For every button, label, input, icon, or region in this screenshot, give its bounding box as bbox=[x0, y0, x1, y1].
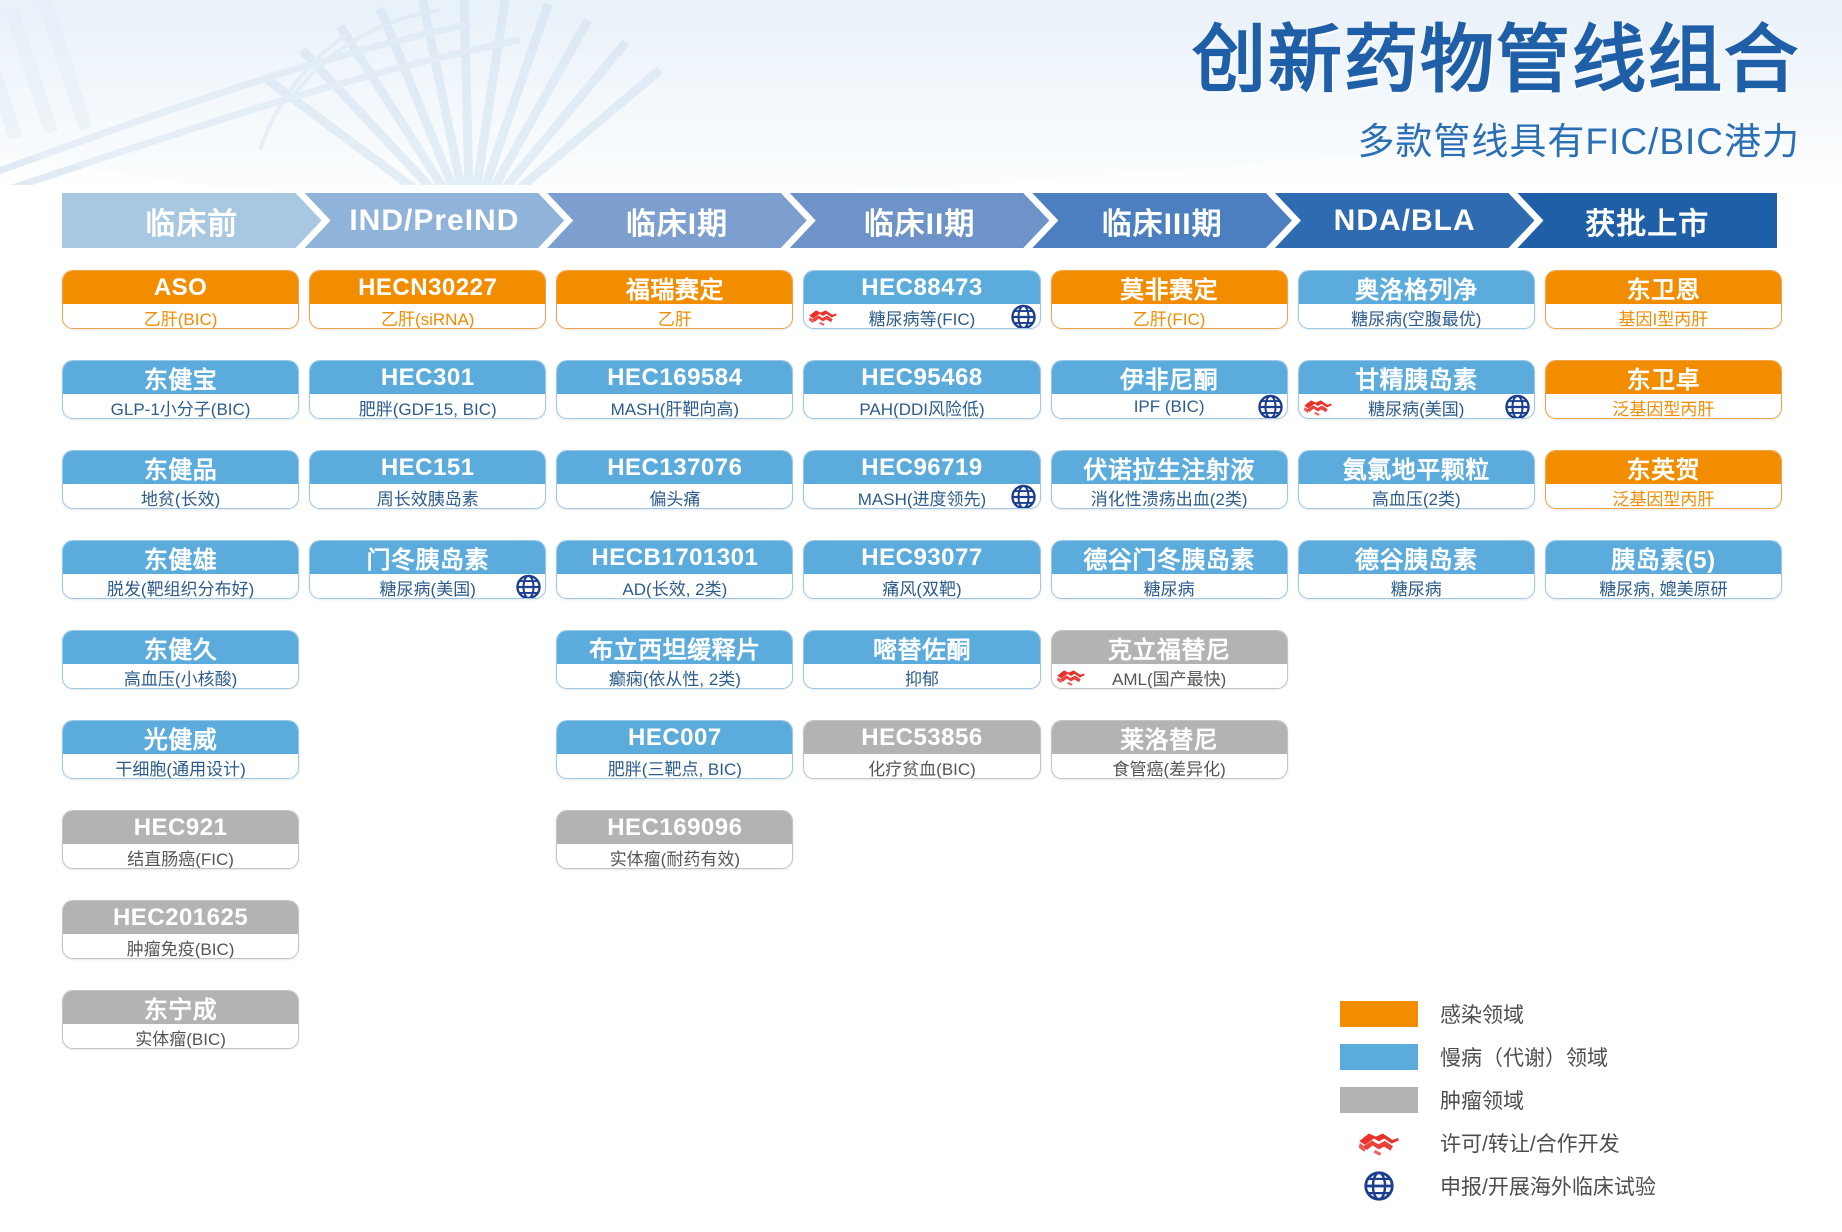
pipeline-card-name: 德谷胰岛素 bbox=[1299, 541, 1534, 574]
pipeline-card[interactable]: HEC93077痛风(双靶) bbox=[803, 540, 1040, 599]
pipeline-card-indication: 糖尿病 bbox=[1391, 575, 1442, 600]
pipeline-card[interactable]: HEC88473糖尿病等(FIC) bbox=[803, 270, 1040, 329]
pipeline-card-indication: 乙肝(siRNA) bbox=[381, 305, 475, 330]
pipeline-card-name: 福瑞赛定 bbox=[557, 271, 792, 304]
legend-color-swatch bbox=[1340, 1044, 1418, 1070]
pipeline-card-indication: 糖尿病(美国) bbox=[1368, 395, 1464, 420]
pipeline-card-indication: 糖尿病, 媲美原研 bbox=[1599, 575, 1727, 600]
pipeline-card-name: HEC53856 bbox=[804, 721, 1039, 754]
pipeline-card[interactable]: HECB1701301AD(长效, 2类) bbox=[556, 540, 793, 599]
legend-item: 感染领域 bbox=[1340, 1000, 1656, 1028]
pipeline-card[interactable]: HEC95468PAH(DDI风险低) bbox=[803, 360, 1040, 419]
pipeline-card-indication: IPF (BIC) bbox=[1134, 397, 1205, 417]
pipeline-card-name: 胰岛素(5) bbox=[1546, 541, 1781, 574]
handshake-icon bbox=[1056, 667, 1086, 687]
pipeline-card-indication: 实体瘤(BIC) bbox=[135, 1025, 226, 1050]
pipeline-card-indication: 肥胖(三靶点, BIC) bbox=[608, 755, 742, 780]
pipeline-card-indication-row: 抑郁 bbox=[804, 664, 1039, 689]
pipeline-card[interactable]: 布立西坦缓释片癫痫(依从性, 2类) bbox=[556, 630, 793, 689]
pipeline-card[interactable]: 莫非赛定乙肝(FIC) bbox=[1051, 270, 1288, 329]
pipeline-card-name: 布立西坦缓释片 bbox=[557, 631, 792, 664]
pipeline-card-name: 光健威 bbox=[63, 721, 298, 754]
legend-item: 慢病（代谢）领域 bbox=[1340, 1043, 1656, 1071]
page-subtitle: 多款管线具有FIC/BIC港力 bbox=[1192, 111, 1800, 165]
pipeline-card-indication-row: 泛基因型丙肝 bbox=[1546, 394, 1781, 419]
pipeline-card-name: 东健雄 bbox=[63, 541, 298, 574]
pipeline-column-6: 奥洛格列净糖尿病(空腹最优)甘精胰岛素糖尿病(美国)氨氯地平颗粒高血压(2类)德… bbox=[1298, 270, 1535, 1049]
pipeline-card[interactable]: 门冬胰岛素糖尿病(美国) bbox=[309, 540, 546, 599]
pipeline-card-name: HEC007 bbox=[557, 721, 792, 754]
pipeline-card-indication: 食管癌(差异化) bbox=[1112, 755, 1225, 780]
pipeline-card[interactable]: 伊非尼酮IPF (BIC) bbox=[1051, 360, 1288, 419]
pipeline-card-indication-row: 乙肝(FIC) bbox=[1052, 304, 1287, 329]
pipeline-column-1: ASO乙肝(BIC)东健宝GLP-1小分子(BIC)东健品地贫(长效)东健雄脱发… bbox=[62, 270, 299, 1049]
legend-globe-icon bbox=[1340, 1172, 1418, 1200]
pipeline-card-indication: 周长效胰岛素 bbox=[377, 485, 479, 510]
pipeline-card-indication: 癫痫(依从性, 2类) bbox=[609, 665, 741, 690]
pipeline-card-indication-row: 实体瘤(BIC) bbox=[63, 1024, 298, 1049]
pipeline-card-name: HECB1701301 bbox=[557, 541, 792, 574]
pipeline-card-indication-row: 糖尿病(美国) bbox=[310, 574, 545, 599]
page-title: 创新药物管线组合 bbox=[1192, 14, 1800, 107]
page-header: 创新药物管线组合 多款管线具有FIC/BIC港力 bbox=[1192, 0, 1800, 165]
pipeline-card-indication: 肥胖(GDF15, BIC) bbox=[359, 395, 497, 420]
stage-header-2[interactable]: IND/PreIND bbox=[305, 193, 565, 248]
pipeline-card-name: 嘧替佐酮 bbox=[804, 631, 1039, 664]
pipeline-card-indication: 偏头痛 bbox=[649, 485, 700, 510]
stage-header-label: 临床III期 bbox=[1102, 199, 1223, 243]
pipeline-grid: ASO乙肝(BIC)东健宝GLP-1小分子(BIC)东健品地贫(长效)东健雄脱发… bbox=[62, 270, 1782, 1049]
stage-header-6[interactable]: NDA/BLA bbox=[1275, 193, 1535, 248]
pipeline-card-indication: GLP-1小分子(BIC) bbox=[111, 395, 251, 420]
pipeline-card-indication: PAH(DDI风险低) bbox=[859, 395, 984, 420]
legend-item: 肿瘤领域 bbox=[1340, 1086, 1656, 1114]
pipeline-card-indication-row: 结直肠癌(FIC) bbox=[63, 844, 298, 869]
pipeline-card-name: 德谷门冬胰岛素 bbox=[1052, 541, 1287, 574]
pipeline-card[interactable]: HEC169584MASH(肝靶向高) bbox=[556, 360, 793, 419]
legend-label: 慢病（代谢）领域 bbox=[1440, 1042, 1608, 1072]
stage-header-4[interactable]: 临床II期 bbox=[790, 193, 1050, 248]
pipeline-card[interactable]: HEC53856化疗贫血(BIC) bbox=[803, 720, 1040, 779]
pipeline-card-indication-row: IPF (BIC) bbox=[1052, 394, 1287, 419]
pipeline-card-name: 东健宝 bbox=[63, 361, 298, 394]
pipeline-card-name: 莫非赛定 bbox=[1052, 271, 1287, 304]
legend-color-swatch bbox=[1340, 1001, 1418, 1027]
pipeline-card[interactable]: 东英贺泛基因型丙肝 bbox=[1545, 450, 1782, 509]
legend-label: 许可/转让/合作开发 bbox=[1440, 1128, 1620, 1158]
pipeline-card-name: HEC88473 bbox=[804, 271, 1039, 304]
globe-icon bbox=[516, 575, 541, 600]
stage-header-5[interactable]: 临床III期 bbox=[1032, 193, 1292, 248]
pipeline-card-indication-row: 周长效胰岛素 bbox=[310, 484, 545, 509]
pipeline-card-indication-row: 消化性溃疡出血(2类) bbox=[1052, 484, 1287, 509]
pipeline-card-indication: 泛基因型丙肝 bbox=[1612, 485, 1714, 510]
pipeline-card[interactable]: 伏诺拉生注射液消化性溃疡出血(2类) bbox=[1051, 450, 1288, 509]
pipeline-card-indication: 乙肝(BIC) bbox=[144, 305, 218, 330]
stage-header-3[interactable]: 临床I期 bbox=[547, 193, 807, 248]
pipeline-card[interactable]: 德谷胰岛素糖尿病 bbox=[1298, 540, 1535, 599]
pipeline-card-name: HEC301 bbox=[310, 361, 545, 394]
pipeline-card-indication: MASH(肝靶向高) bbox=[611, 395, 739, 420]
pipeline-card-indication: 糖尿病等(FIC) bbox=[869, 305, 976, 330]
pipeline-card-indication: MASH(进度领先) bbox=[858, 485, 986, 510]
pipeline-card-indication: 乙肝 bbox=[658, 305, 692, 330]
pipeline-card-indication-row: 肥胖(GDF15, BIC) bbox=[310, 394, 545, 419]
pipeline-card-indication: AML(国产最快) bbox=[1112, 665, 1226, 690]
pipeline-card[interactable]: HEC137076偏头痛 bbox=[556, 450, 793, 509]
pipeline-card-name: HEC169584 bbox=[557, 361, 792, 394]
pipeline-column-7: 东卫恩基因I型丙肝东卫卓泛基因型丙肝东英贺泛基因型丙肝胰岛素(5)糖尿病, 媲美… bbox=[1545, 270, 1782, 1049]
pipeline-card-indication-row: 肿瘤免疫(BIC) bbox=[63, 934, 298, 959]
pipeline-card[interactable]: HEC007肥胖(三靶点, BIC) bbox=[556, 720, 793, 779]
globe-icon bbox=[1258, 395, 1283, 420]
legend-color-swatch bbox=[1340, 1087, 1418, 1113]
legend-handshake-icon bbox=[1340, 1129, 1418, 1157]
pipeline-card-name: HEC201625 bbox=[63, 901, 298, 934]
pipeline-card[interactable]: 甘精胰岛素糖尿病(美国) bbox=[1298, 360, 1535, 419]
pipeline-card-name: HEC921 bbox=[63, 811, 298, 844]
pipeline-card-indication-row: 高血压(小核酸) bbox=[63, 664, 298, 689]
pipeline-card[interactable]: 东卫卓泛基因型丙肝 bbox=[1545, 360, 1782, 419]
pipeline-card[interactable]: 东健品地贫(长效) bbox=[62, 450, 299, 509]
pipeline-card-name: HEC137076 bbox=[557, 451, 792, 484]
pipeline-card[interactable]: ASO乙肝(BIC) bbox=[62, 270, 299, 329]
pipeline-card-indication: 抑郁 bbox=[905, 665, 939, 690]
handshake-icon bbox=[808, 307, 838, 327]
pipeline-card[interactable]: 氨氯地平颗粒高血压(2类) bbox=[1298, 450, 1535, 509]
pipeline-card-indication-row: 糖尿病(空腹最优) bbox=[1299, 304, 1534, 329]
legend-label: 感染领域 bbox=[1440, 999, 1524, 1029]
pipeline-card[interactable]: 嘧替佐酮抑郁 bbox=[803, 630, 1040, 689]
pipeline-card-indication: 痛风(双靶) bbox=[882, 575, 961, 600]
pipeline-card-indication: 肿瘤免疫(BIC) bbox=[127, 935, 235, 960]
pipeline-card[interactable]: 德谷门冬胰岛素糖尿病 bbox=[1051, 540, 1288, 599]
pipeline-card[interactable]: HEC96719MASH(进度领先) bbox=[803, 450, 1040, 509]
pipeline-card[interactable]: 福瑞赛定乙肝 bbox=[556, 270, 793, 329]
pipeline-card-indication: 基因I型丙肝 bbox=[1619, 305, 1709, 330]
legend-label: 申报/开展海外临床试验 bbox=[1440, 1171, 1656, 1201]
pipeline-card-indication-row: 基因I型丙肝 bbox=[1546, 304, 1781, 329]
pipeline-card[interactable]: HEC301肥胖(GDF15, BIC) bbox=[309, 360, 546, 419]
pipeline-card-indication: 糖尿病(空腹最优) bbox=[1351, 305, 1481, 330]
pipeline-card-indication: 化疗贫血(BIC) bbox=[868, 755, 976, 780]
stage-header-1[interactable]: 临床前 bbox=[62, 193, 322, 248]
pipeline-card[interactable]: 克立福替尼AML(国产最快) bbox=[1051, 630, 1288, 689]
pipeline-card-indication-row: 地贫(长效) bbox=[63, 484, 298, 509]
stage-header-label: 临床II期 bbox=[864, 199, 976, 243]
pipeline-card-name: HEC93077 bbox=[804, 541, 1039, 574]
pipeline-card-indication-row: GLP-1小分子(BIC) bbox=[63, 394, 298, 419]
pipeline-card-name: 奥洛格列净 bbox=[1299, 271, 1534, 304]
pipeline-card-indication-row: 糖尿病等(FIC) bbox=[804, 304, 1039, 329]
pipeline-card-indication: 乙肝(FIC) bbox=[1133, 305, 1206, 330]
pipeline-card-name: 莱洛替尼 bbox=[1052, 721, 1287, 754]
pipeline-column-5: 莫非赛定乙肝(FIC)伊非尼酮IPF (BIC)伏诺拉生注射液消化性溃疡出血(2… bbox=[1051, 270, 1288, 1049]
handshake-icon bbox=[1357, 1129, 1401, 1157]
globe-icon bbox=[1505, 395, 1530, 420]
pipeline-card-indication: 脱发(靶组织分布好) bbox=[107, 575, 254, 600]
pipeline-card-indication: 地贫(长效) bbox=[141, 485, 220, 510]
pipeline-card[interactable]: HECN30227乙肝(siRNA) bbox=[309, 270, 546, 329]
pipeline-column-3: 福瑞赛定乙肝HEC169584MASH(肝靶向高)HEC137076偏头痛HEC… bbox=[556, 270, 793, 1049]
pipeline-card-indication-row: MASH(肝靶向高) bbox=[557, 394, 792, 419]
pipeline-card-indication-row: 糖尿病, 媲美原研 bbox=[1546, 574, 1781, 599]
stage-header-label: 获批上市 bbox=[1585, 199, 1709, 243]
pipeline-card-name: HEC95468 bbox=[804, 361, 1039, 394]
pipeline-card-name: ASO bbox=[63, 271, 298, 304]
pipeline-card[interactable]: HEC201625肿瘤免疫(BIC) bbox=[62, 900, 299, 959]
pipeline-card[interactable]: 东健宝GLP-1小分子(BIC) bbox=[62, 360, 299, 419]
pipeline-column-2: HECN30227乙肝(siRNA)HEC301肥胖(GDF15, BIC)HE… bbox=[309, 270, 546, 1049]
stage-header-label: 临床前 bbox=[145, 199, 238, 243]
legend: 感染领域慢病（代谢）领域肿瘤领域许可/转让/合作开发申报/开展海外临床试验 bbox=[1340, 1000, 1656, 1200]
pipeline-card-indication-row: 乙肝(BIC) bbox=[63, 304, 298, 329]
pipeline-card-name: 东英贺 bbox=[1546, 451, 1781, 484]
pipeline-card-name: 东健久 bbox=[63, 631, 298, 664]
pipeline-card-name: HEC169096 bbox=[557, 811, 792, 844]
globe-icon bbox=[1011, 485, 1036, 510]
pipeline-card-indication: 结直肠癌(FIC) bbox=[127, 845, 234, 870]
stage-header-label: 临床I期 bbox=[626, 199, 728, 243]
pipeline-card-name: 克立福替尼 bbox=[1052, 631, 1287, 664]
globe-icon bbox=[1011, 305, 1036, 330]
pipeline-card-indication-row: AD(长效, 2类) bbox=[557, 574, 792, 599]
pipeline-card-name: 伏诺拉生注射液 bbox=[1052, 451, 1287, 484]
pipeline-card-name: 东宁成 bbox=[63, 991, 298, 1024]
pipeline-card-name: 东健品 bbox=[63, 451, 298, 484]
legend-label: 肿瘤领域 bbox=[1440, 1085, 1524, 1115]
pipeline-card[interactable]: HEC151周长效胰岛素 bbox=[309, 450, 546, 509]
pipeline-card-indication: 高血压(2类) bbox=[1372, 485, 1461, 510]
pipeline-card-name: 东卫恩 bbox=[1546, 271, 1781, 304]
pipeline-card-name: 伊非尼酮 bbox=[1052, 361, 1287, 394]
handshake-icon bbox=[1303, 397, 1333, 417]
pipeline-card-indication-row: 乙肝(siRNA) bbox=[310, 304, 545, 329]
pipeline-card-indication-row: 化疗贫血(BIC) bbox=[804, 754, 1039, 779]
pipeline-card[interactable]: 东卫恩基因I型丙肝 bbox=[1545, 270, 1782, 329]
legend-item: 申报/开展海外临床试验 bbox=[1340, 1172, 1656, 1200]
pipeline-card-indication-row: 干细胞(通用设计) bbox=[63, 754, 298, 779]
stage-header-label: NDA/BLA bbox=[1334, 204, 1476, 238]
pipeline-card-indication: 消化性溃疡出血(2类) bbox=[1091, 485, 1248, 510]
pipeline-card-indication: 实体瘤(耐药有效) bbox=[610, 845, 740, 870]
pipeline-card-indication-row: 泛基因型丙肝 bbox=[1546, 484, 1781, 509]
pipeline-card-indication-row: 糖尿病 bbox=[1299, 574, 1534, 599]
pipeline-card[interactable]: 胰岛素(5)糖尿病, 媲美原研 bbox=[1545, 540, 1782, 599]
pipeline-card-indication-row: 糖尿病(美国) bbox=[1299, 394, 1534, 419]
pipeline-card-name: 东卫卓 bbox=[1546, 361, 1781, 394]
pipeline-card-indication-row: 糖尿病 bbox=[1052, 574, 1287, 599]
pipeline-card-name: 氨氯地平颗粒 bbox=[1299, 451, 1534, 484]
legend-item: 许可/转让/合作开发 bbox=[1340, 1129, 1656, 1157]
pipeline-card-indication-row: 肥胖(三靶点, BIC) bbox=[557, 754, 792, 779]
pipeline-card-indication: 糖尿病(美国) bbox=[380, 575, 476, 600]
pipeline-card[interactable]: 东健雄脱发(靶组织分布好) bbox=[62, 540, 299, 599]
pipeline-card-indication-row: 食管癌(差异化) bbox=[1052, 754, 1287, 779]
pipeline-card-indication-row: 乙肝 bbox=[557, 304, 792, 329]
stage-header-7[interactable]: 获批上市 bbox=[1517, 193, 1777, 248]
pipeline-card-name: HEC151 bbox=[310, 451, 545, 484]
pipeline-card[interactable]: 东宁成实体瘤(BIC) bbox=[62, 990, 299, 1049]
pipeline-card[interactable]: 东健久高血压(小核酸) bbox=[62, 630, 299, 689]
pipeline-card-indication-row: 脱发(靶组织分布好) bbox=[63, 574, 298, 599]
pipeline-card[interactable]: 莱洛替尼食管癌(差异化) bbox=[1051, 720, 1288, 779]
stage-header-label: IND/PreIND bbox=[349, 204, 519, 238]
pipeline-card-indication-row: AML(国产最快) bbox=[1052, 664, 1287, 689]
pipeline-card-indication-row: 癫痫(依从性, 2类) bbox=[557, 664, 792, 689]
pipeline-card-indication-row: MASH(进度领先) bbox=[804, 484, 1039, 509]
globe-icon bbox=[1364, 1171, 1394, 1201]
pipeline-card[interactable]: 奥洛格列净糖尿病(空腹最优) bbox=[1298, 270, 1535, 329]
pipeline-card-indication: 糖尿病 bbox=[1144, 575, 1195, 600]
pipeline-card-name: HEC96719 bbox=[804, 451, 1039, 484]
pipeline-card-indication-row: 痛风(双靶) bbox=[804, 574, 1039, 599]
pipeline-card-indication-row: 偏头痛 bbox=[557, 484, 792, 509]
pipeline-card[interactable]: 光健威干细胞(通用设计) bbox=[62, 720, 299, 779]
pipeline-card-indication: AD(长效, 2类) bbox=[622, 575, 727, 600]
stage-header-row: 临床前IND/PreIND临床I期临床II期临床III期NDA/BLA获批上市 bbox=[62, 193, 1782, 248]
pipeline-card-indication-row: 高血压(2类) bbox=[1299, 484, 1534, 509]
pipeline-card-name: 门冬胰岛素 bbox=[310, 541, 545, 574]
pipeline-card-indication-row: PAH(DDI风险低) bbox=[804, 394, 1039, 419]
pipeline-card-indication: 高血压(小核酸) bbox=[124, 665, 237, 690]
pipeline-card-name: HECN30227 bbox=[310, 271, 545, 304]
pipeline-card[interactable]: HEC921结直肠癌(FIC) bbox=[62, 810, 299, 869]
pipeline-column-4: HEC88473糖尿病等(FIC)HEC95468PAH(DDI风险低)HEC9… bbox=[803, 270, 1040, 1049]
pipeline-card-indication: 干细胞(通用设计) bbox=[115, 755, 245, 780]
pipeline-card[interactable]: HEC169096实体瘤(耐药有效) bbox=[556, 810, 793, 869]
pipeline-card-indication-row: 实体瘤(耐药有效) bbox=[557, 844, 792, 869]
pipeline-card-name: 甘精胰岛素 bbox=[1299, 361, 1534, 394]
pipeline-card-indication: 泛基因型丙肝 bbox=[1612, 395, 1714, 420]
